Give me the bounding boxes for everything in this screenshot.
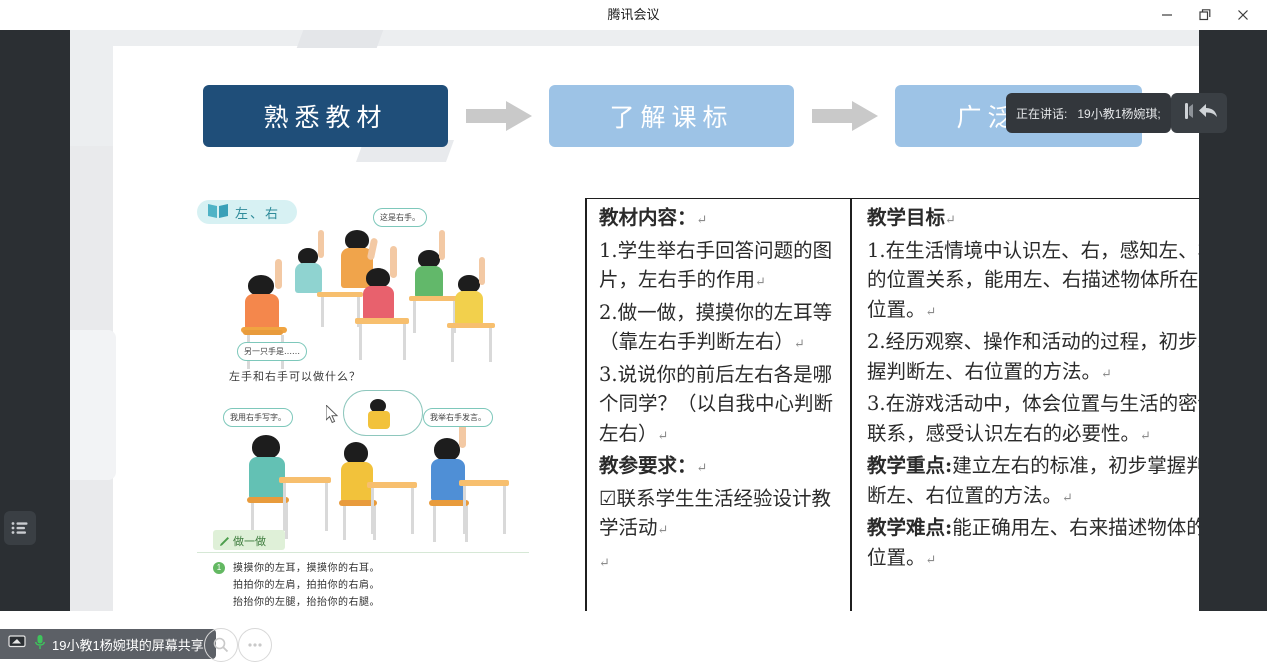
meeting-stage: 熟悉教材 了解课标 广泛阅读 左、右 bbox=[0, 30, 1267, 668]
paragraph-mark: ↵ bbox=[1140, 429, 1151, 444]
process-box-2: 了解课标 bbox=[549, 85, 794, 147]
exercise-line: 抬抬你的左腿，抬抬你的右腿。 bbox=[233, 594, 380, 611]
right-column-item: 1.在生活情境中认识左、右，感知左、右的位置关系，能用左、右描述物体所在的位置。 bbox=[867, 239, 1199, 321]
table-left-border bbox=[585, 199, 587, 618]
list-icon bbox=[11, 521, 29, 535]
thought-bubble bbox=[343, 390, 423, 436]
return-arrow-icon[interactable] bbox=[1198, 102, 1218, 125]
screen-share-status[interactable]: 19小教1杨婉琪的屏幕共享 bbox=[0, 629, 216, 659]
exercise-line: 拍拍你的左肩，拍拍你的右肩。 bbox=[233, 577, 380, 594]
left-column-subheading: 教参要求： bbox=[599, 454, 697, 477]
table-column-divider bbox=[850, 199, 852, 618]
paragraph-mark: ↵ bbox=[945, 213, 956, 228]
textbook-section-tag: 左、右 bbox=[197, 200, 297, 224]
maximize-button[interactable] bbox=[1185, 0, 1225, 30]
arrow-right-icon bbox=[812, 101, 878, 131]
process-arrow-1 bbox=[466, 101, 532, 131]
right-column-item: 2.经历观察、操作和活动的过程，初步掌握判断左、右位置的方法。 bbox=[867, 330, 1199, 383]
textbook-section-label: 左、右 bbox=[235, 203, 280, 222]
do-it-label: 做一做 bbox=[233, 533, 266, 549]
speech-bubble: 我举右手发言。 bbox=[423, 408, 493, 427]
speech-bubble: 这是右手。 bbox=[373, 208, 427, 227]
speaking-label: 正在讲话: bbox=[1016, 105, 1067, 122]
mouse-cursor bbox=[326, 405, 340, 430]
minimize-button[interactable] bbox=[1147, 0, 1187, 30]
left-column-heading: 教材内容： bbox=[599, 206, 697, 229]
exercise-line: 摸摸你的左耳，摸摸你的右耳。 bbox=[233, 560, 380, 577]
table-column-left: 教材内容：↵ 1.学生举右手回答问题的图片，左右手的作用↵ 2.做一做，摸摸你的… bbox=[599, 203, 845, 578]
paragraph-mark: ↵ bbox=[926, 305, 937, 320]
pencil-icon bbox=[219, 534, 230, 552]
table-column-right: 教学目标↵ 1.在生活情境中认识左、右，感知左、右的位置关系，能用左、右描述物体… bbox=[867, 203, 1199, 575]
left-column-subitem: ☑联系学生生活经验设计教学活动 bbox=[599, 487, 831, 540]
audio-wave-icon bbox=[1180, 101, 1194, 126]
difficulty-label: 教学难点: bbox=[867, 516, 952, 539]
left-column-item: 3.说说你的前后左右各是哪个同学？（以自我中心判断左右） bbox=[599, 363, 833, 445]
left-rail bbox=[0, 30, 70, 668]
key-point-label: 教学重点: bbox=[867, 454, 952, 477]
right-column-heading: 教学目标 bbox=[867, 206, 945, 229]
microphone-icon[interactable] bbox=[34, 634, 46, 655]
search-icon bbox=[212, 636, 230, 654]
do-it-tag: 做一做 bbox=[213, 530, 285, 550]
process-arrow-2 bbox=[812, 101, 878, 131]
paragraph-mark: ↵ bbox=[697, 213, 708, 228]
decor-shape-3 bbox=[70, 330, 116, 480]
paragraph-mark: ↵ bbox=[599, 556, 610, 571]
paragraph-mark: ↵ bbox=[1062, 491, 1073, 506]
paragraph-mark: ↵ bbox=[1101, 367, 1112, 382]
speech-bubble: 另一只手是…… bbox=[237, 342, 307, 361]
zoom-search-button[interactable] bbox=[204, 628, 238, 662]
speaking-icon-group[interactable] bbox=[1171, 93, 1227, 133]
paragraph-mark: ↵ bbox=[697, 461, 708, 476]
textbook-caption: 左手和右手可以做什么？ bbox=[229, 368, 361, 384]
window-title: 腾讯会议 bbox=[0, 0, 1267, 30]
more-options-button[interactable] bbox=[238, 628, 272, 662]
process-box-1: 熟悉教材 bbox=[203, 85, 448, 147]
arrow-right-icon bbox=[466, 101, 532, 131]
paragraph-mark: ↵ bbox=[658, 429, 669, 444]
exercise-number: 1 bbox=[213, 562, 225, 574]
speaking-indicator: 正在讲话: 19小教1杨婉琪; bbox=[1006, 93, 1171, 133]
share-owner-label: 19小教1杨婉琪的屏幕共享 bbox=[52, 635, 204, 654]
more-options-icon bbox=[246, 642, 264, 648]
paragraph-mark: ↵ bbox=[658, 523, 669, 538]
open-book-icon bbox=[207, 201, 229, 224]
speaking-name: 19小教1杨婉琪; bbox=[1077, 105, 1160, 122]
exercise-item: 摸摸你的左耳，摸摸你的右耳。 拍拍你的左肩，拍拍你的右肩。 抬抬你的左腿，抬抬你… bbox=[233, 560, 380, 611]
screen-share-icon bbox=[8, 635, 26, 654]
textbook-page-image: 左、右 bbox=[183, 180, 543, 641]
speech-bubble: 我用右手写字。 bbox=[223, 408, 293, 427]
content-table: 教材内容：↵ 1.学生举右手回答问题的图片，左右手的作用↵ 2.做一做，摸摸你的… bbox=[585, 198, 1199, 619]
close-button[interactable] bbox=[1223, 0, 1263, 30]
window-titlebar: 腾讯会议 bbox=[0, 0, 1267, 30]
participants-list-button[interactable] bbox=[4, 511, 36, 545]
paragraph-mark: ↵ bbox=[926, 553, 937, 568]
paragraph-mark: ↵ bbox=[755, 275, 766, 290]
close-icon bbox=[1236, 8, 1250, 22]
left-column-item: 1.学生举右手回答问题的图片，左右手的作用 bbox=[599, 239, 832, 292]
bottom-bar: 19小教1杨婉琪的屏幕共享 bbox=[0, 611, 1267, 668]
divider bbox=[197, 552, 529, 553]
paragraph-mark: ↵ bbox=[794, 337, 805, 352]
decor-shape-1 bbox=[297, 30, 384, 48]
restore-window-icon bbox=[1198, 8, 1212, 22]
minimize-icon bbox=[1160, 8, 1174, 22]
